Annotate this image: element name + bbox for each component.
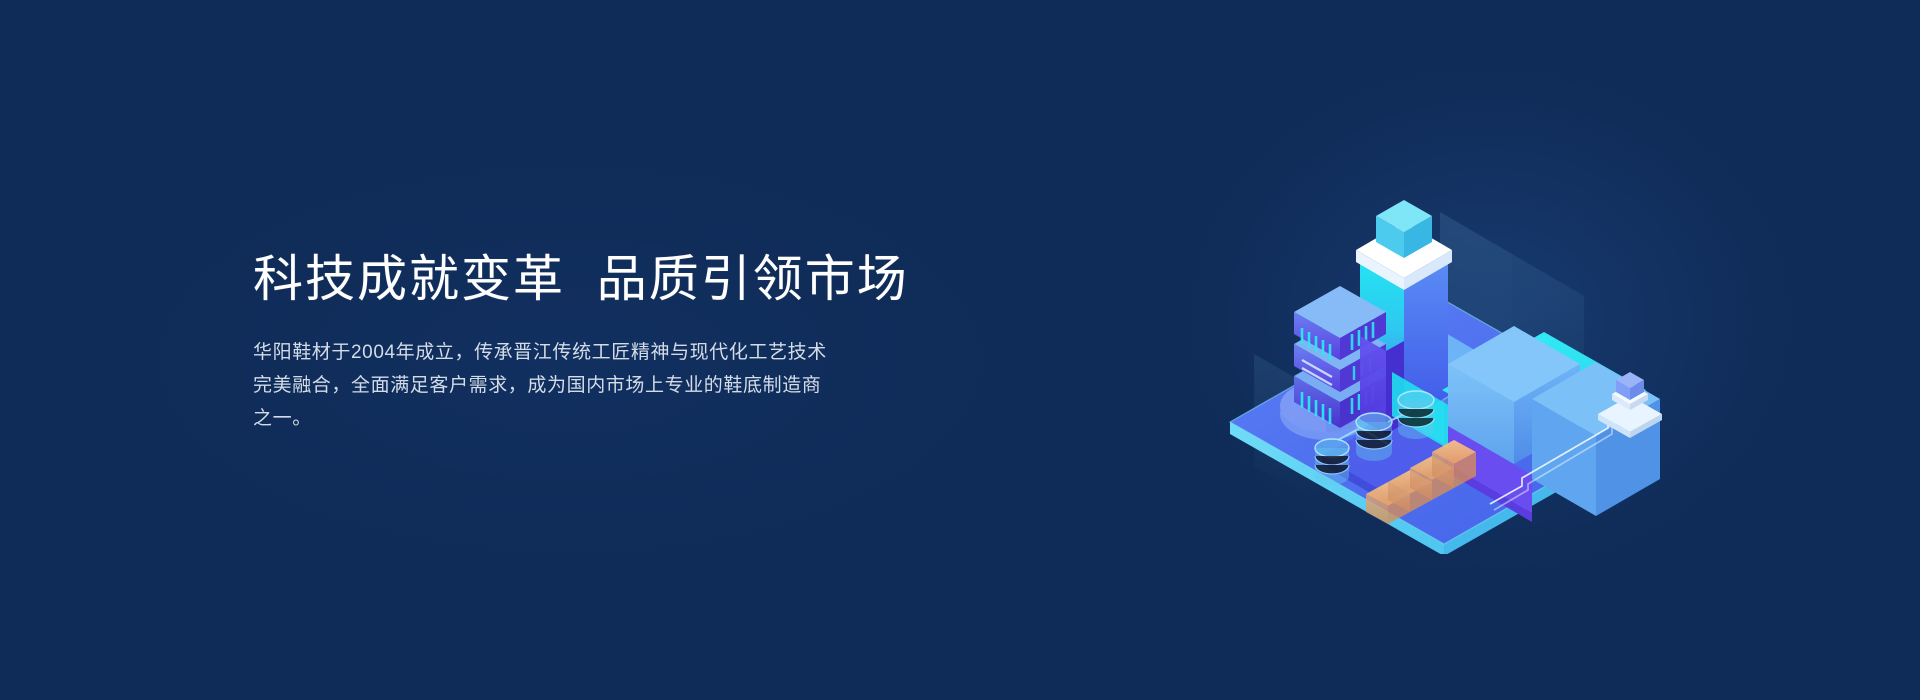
isometric-factory-illustration (1192, 104, 1692, 554)
hero-banner: 科技成就变革 品质引领市场 华阳鞋材于2004年成立，传承晋江传统工匠精神与现代… (0, 0, 1920, 700)
tank-large (1398, 391, 1434, 439)
hero-copy-block: 科技成就变革 品质引领市场 华阳鞋材于2004年成立，传承晋江传统工匠精神与现代… (253, 248, 953, 435)
page-title: 科技成就变革 品质引领市场 (253, 248, 953, 310)
hero-description: 华阳鞋材于2004年成立，传承晋江传统工匠精神与现代化工艺技术完美融合，全面满足… (253, 336, 833, 435)
illustration-svg (1192, 104, 1692, 554)
tank-medium (1356, 413, 1392, 461)
tank-small (1315, 439, 1349, 485)
